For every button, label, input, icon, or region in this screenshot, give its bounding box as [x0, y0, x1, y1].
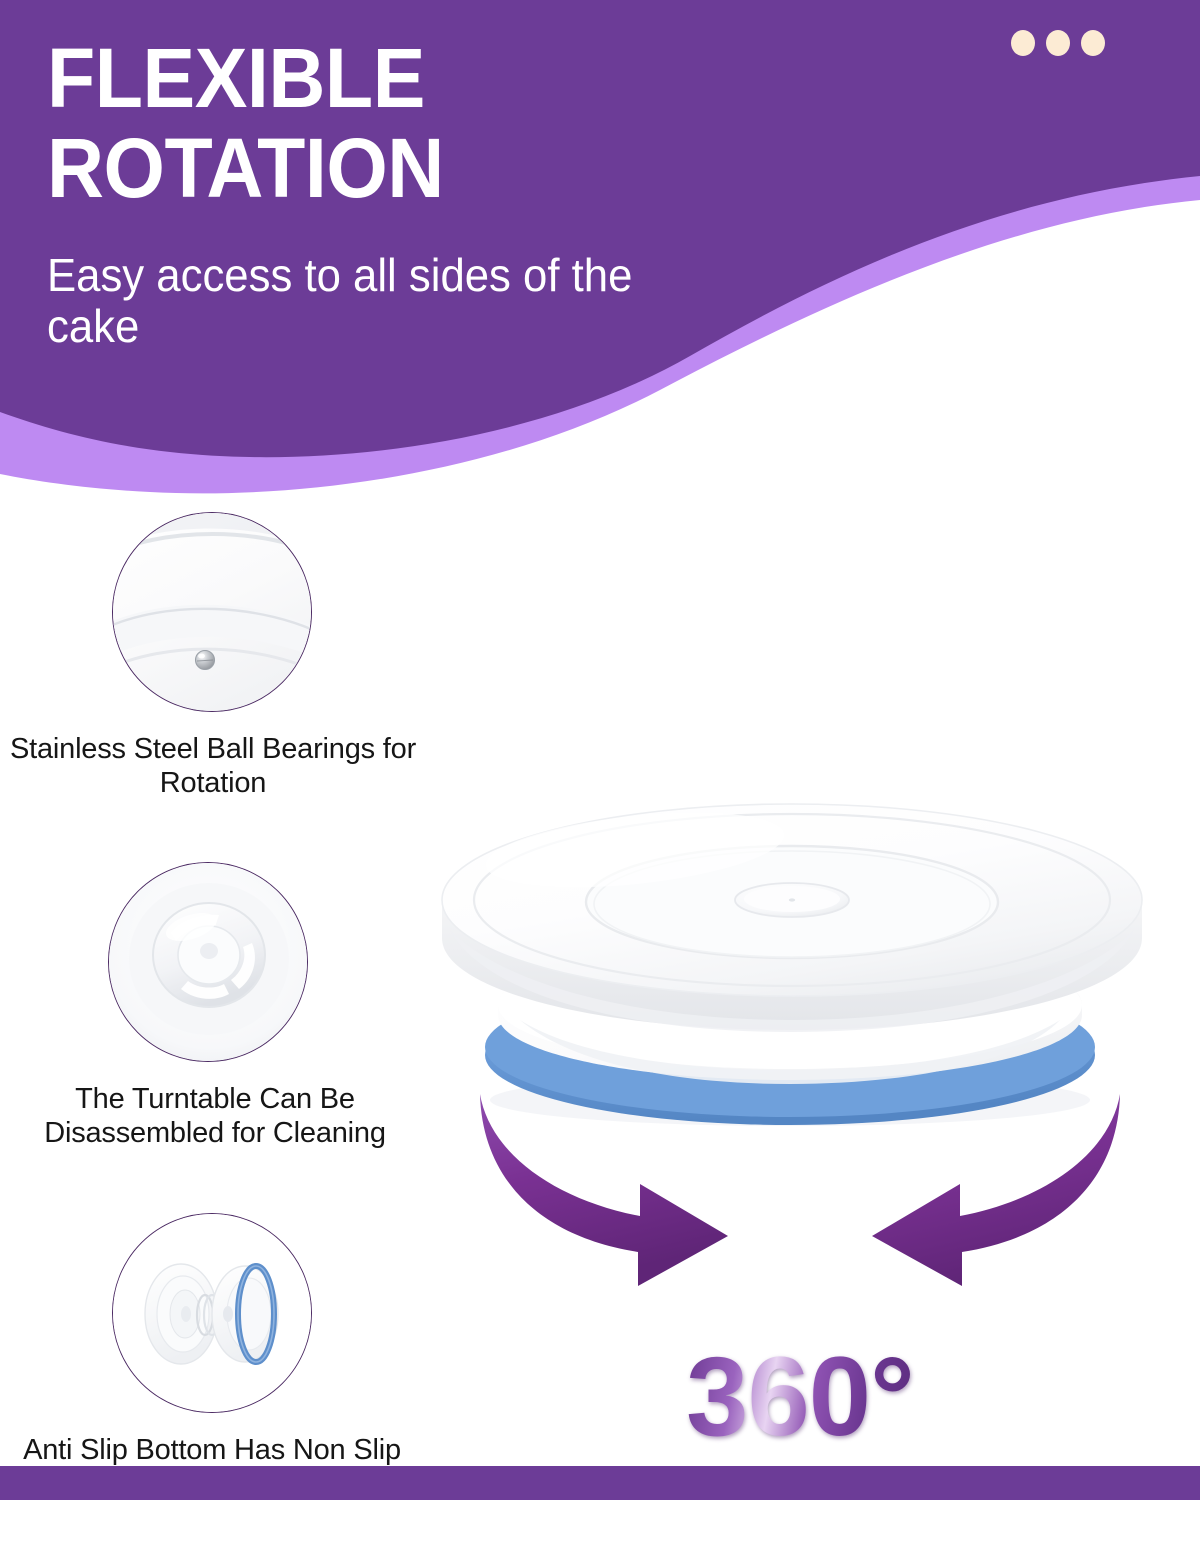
turntable-base-photo — [108, 862, 308, 1062]
feature-caption-disassembly: The Turntable Can Be Disassembled for Cl… — [0, 1083, 430, 1150]
page-title-line-1: FLEXIBLE — [47, 38, 705, 119]
feature-callout-list: Stainless Steel Ball Bearings for Rotati… — [0, 512, 430, 1557]
degree-value: 360° — [686, 1334, 914, 1459]
page-subtitle: Easy access to all sides of the cake — [47, 250, 674, 353]
footer-bar — [0, 1466, 1200, 1500]
dot-2-icon — [1046, 30, 1070, 56]
ball-bearing-photo — [112, 512, 312, 712]
exploded-parts-photo — [112, 1213, 312, 1413]
three-dots-icon — [1011, 30, 1105, 56]
feature-callout-ball-bearings: Stainless Steel Ball Bearings for Rotati… — [0, 512, 430, 800]
feature-caption-ball-bearings: Stainless Steel Ball Bearings for Rotati… — [8, 733, 418, 800]
header-text-block: FLEXIBLE ROTATION Easy access to all sid… — [47, 38, 747, 353]
dot-1-icon — [1011, 30, 1035, 56]
curved-arrow-right-icon — [480, 1094, 728, 1286]
feature-callout-disassembly: The Turntable Can Be Disassembled for Cl… — [0, 862, 430, 1150]
curved-arrow-left-icon — [872, 1094, 1120, 1286]
degree-label: 360° — [460, 1332, 1140, 1461]
feature-callout-anti-slip: Anti Slip Bottom Has Non Slip Rubber — [0, 1213, 430, 1501]
dot-3-icon — [1081, 30, 1105, 56]
header-banner: FLEXIBLE ROTATION Easy access to all sid… — [0, 0, 1200, 500]
page-title-line-2: ROTATION — [47, 128, 705, 209]
rotation-indicator: 360° — [460, 1080, 1140, 1460]
